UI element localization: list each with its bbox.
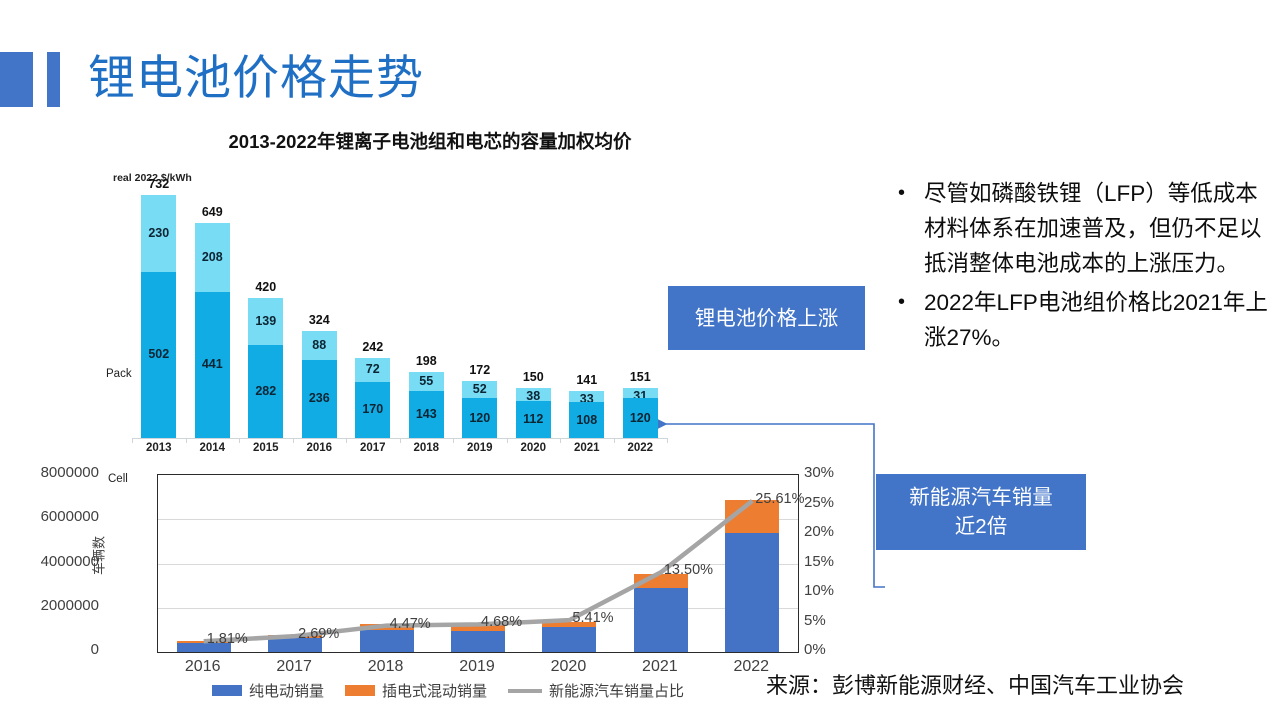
x-tick-mark: [239, 438, 240, 443]
legend-item-bev: 纯电动销量: [212, 680, 324, 701]
bar-segment-pack: 208: [195, 223, 230, 292]
bar-segment-pack: 55: [409, 372, 444, 390]
nev-chart-legend: 纯电动销量 插电式混动销量 新能源汽车销量占比: [212, 680, 696, 701]
x-tick-mark: [507, 438, 508, 443]
slide-canvas: 锂电池价格走势 2013-2022年锂离子电池组和电芯的容量加权均价 real …: [0, 0, 1280, 720]
legend-item-share: 新能源汽车销量占比: [508, 680, 684, 701]
x-tick-mark: [453, 438, 454, 443]
legend-swatch-bev-icon: [212, 685, 242, 696]
series-label-pack: Pack: [106, 368, 132, 380]
list-item: 2022年LFP电池组价格比2021年上涨27%。: [890, 285, 1270, 355]
bar-value-cell: 120: [462, 411, 497, 425]
bar-segment-cell: 236: [302, 360, 337, 438]
bar-group: 72170: [355, 358, 390, 438]
bar-segment-cell: 143: [409, 391, 444, 438]
x-tick-mark: [400, 438, 401, 443]
bar-segment-cell: 170: [355, 382, 390, 438]
callout-ev-sales-line1: 新能源汽车销量: [909, 483, 1053, 512]
bar-total-label: 198: [401, 354, 452, 368]
bar-segment-pack: 33: [569, 391, 604, 402]
bar-segment-cell: 502: [141, 272, 176, 438]
bar-total-label: 150: [508, 370, 559, 384]
bar-total-label: 151: [615, 370, 666, 384]
bar-value-cell: 143: [409, 407, 444, 421]
legend-swatch-share-icon: [508, 689, 542, 693]
bar-total-label: 732: [133, 177, 184, 191]
battery-price-chart: 2013-2022年锂离子电池组和电芯的容量加权均价 real 2022 $/k…: [100, 128, 680, 468]
bar-group: 55143: [409, 372, 444, 438]
bar-group: 52120: [462, 381, 497, 438]
bar-segment-cell: 120: [462, 398, 497, 438]
y-tick-label: 4000000: [3, 553, 99, 570]
x-tick-label: 2019: [454, 442, 506, 454]
bar-total-label: 649: [187, 205, 238, 219]
insight-bullet-list: 尽管如磷酸铁锂（LFP）等低成本材料体系在加速普及，但仍不足以抵消整体电池成本的…: [890, 176, 1270, 359]
y-tick-label: 2000000: [3, 597, 99, 614]
bar-value-pack: 230: [141, 226, 176, 240]
bar-value-cell: 502: [141, 347, 176, 361]
y-tick-label: 0: [3, 641, 99, 658]
bar-segment-pack: 88: [302, 331, 337, 360]
bar-total-label: 141: [561, 373, 612, 387]
bar-segment-pack: 52: [462, 381, 497, 398]
legend-label-bev: 纯电动销量: [249, 680, 324, 701]
bar-value-cell: 112: [516, 412, 551, 426]
bar-value-pack: 208: [195, 250, 230, 264]
bar-segment-cell: 441: [195, 292, 230, 438]
bar-total-label: 420: [240, 280, 291, 294]
bar-segment-pack: 31: [623, 388, 658, 398]
bar-value-cell: 170: [355, 402, 390, 416]
bar-segment-cell: 108: [569, 402, 604, 438]
x-tick-label: 2016: [293, 442, 345, 454]
callout-ev-sales[interactable]: 新能源汽车销量 近2倍: [876, 474, 1086, 550]
x-tick-label: 2020: [523, 658, 613, 676]
x-tick-label: 2014: [186, 442, 238, 454]
data-label-share: 4.47%: [390, 616, 431, 632]
bar-value-pack: 52: [462, 382, 497, 396]
title-accent-bar-wide: [0, 52, 33, 107]
x-tick-label: 2018: [341, 658, 431, 676]
x-tick-mark: [186, 438, 187, 443]
legend-item-phev: 插电式混动销量: [345, 680, 487, 701]
x-tick-label: 2013: [133, 442, 185, 454]
data-label-share: 1.81%: [207, 631, 248, 647]
x-tick-label: 2019: [432, 658, 522, 676]
legend-label-phev: 插电式混动销量: [382, 680, 487, 701]
bar-segment-pack: 72: [355, 358, 390, 382]
callout-connector-arrow-icon: [640, 415, 890, 595]
bar-total-label: 172: [454, 363, 505, 377]
x-tick-mark: [132, 438, 133, 443]
bar-group: 33108: [569, 391, 604, 438]
bar-segment-pack: 139: [248, 298, 283, 344]
bar-total-label: 242: [347, 340, 398, 354]
x-tick-label: 2017: [347, 442, 399, 454]
y2-tick-label: 0%: [804, 641, 826, 658]
y-tick-label: 6000000: [3, 508, 99, 525]
data-label-share: 5.41%: [572, 610, 613, 626]
x-tick-label: 2016: [158, 658, 248, 676]
x-tick-mark: [614, 438, 615, 443]
bar-value-pack: 55: [409, 374, 444, 388]
bar-value-cell: 108: [569, 413, 604, 427]
bar-segment-pack: 230: [141, 195, 176, 271]
x-tick-label: 2018: [400, 442, 452, 454]
title-accent-bar-narrow: [47, 52, 60, 107]
bar-value-cell: 441: [195, 357, 230, 371]
x-tick-label: 2017: [249, 658, 339, 676]
x-tick-mark: [560, 438, 561, 443]
bar-value-cell: 282: [248, 384, 283, 398]
bar-segment-cell: 112: [516, 401, 551, 438]
bar-value-cell: 236: [302, 391, 337, 405]
data-label-share: 2.69%: [298, 626, 339, 642]
bar-segment-cell: 282: [248, 345, 283, 439]
page-title: 锂电池价格走势: [88, 48, 424, 108]
legend-swatch-phev-icon: [345, 685, 375, 696]
x-tick-label: 2021: [615, 658, 705, 676]
bar-value-pack: 139: [248, 314, 283, 328]
x-tick-label: 2020: [507, 442, 559, 454]
bar-value-pack: 72: [355, 362, 390, 376]
x-tick-label: 2021: [561, 442, 613, 454]
y-tick-label: 8000000: [3, 464, 99, 481]
bar-group: 208441: [195, 223, 230, 438]
battery-price-plot-area: 2305027322084416491392824208823632472170…: [132, 186, 667, 438]
list-item: 尽管如磷酸铁锂（LFP）等低成本材料体系在加速普及，但仍不足以抵消整体电池成本的…: [890, 176, 1270, 281]
bar-group: 139282: [248, 298, 283, 438]
legend-label-share: 新能源汽车销量占比: [549, 680, 684, 701]
bar-value-pack: 88: [302, 338, 337, 352]
callout-price-rise[interactable]: 锂电池价格上涨: [668, 286, 865, 350]
source-note: 来源：彭博新能源财经、中国汽车工业协会: [766, 668, 1184, 700]
bar-group: 230502: [141, 195, 176, 438]
callout-ev-sales-line2: 近2倍: [909, 512, 1053, 541]
y2-tick-label: 5%: [804, 612, 826, 629]
chart-title-battery-price: 2013-2022年锂离子电池组和电芯的容量加权均价: [170, 128, 690, 154]
bar-total-label: 324: [294, 313, 345, 327]
bar-segment-pack: 38: [516, 388, 551, 401]
bar-group: 88236: [302, 331, 337, 438]
bar-group: 38112: [516, 388, 551, 438]
data-label-share: 4.68%: [481, 614, 522, 630]
x-tick-label: 2015: [240, 442, 292, 454]
x-tick-mark: [293, 438, 294, 443]
x-tick-mark: [346, 438, 347, 443]
